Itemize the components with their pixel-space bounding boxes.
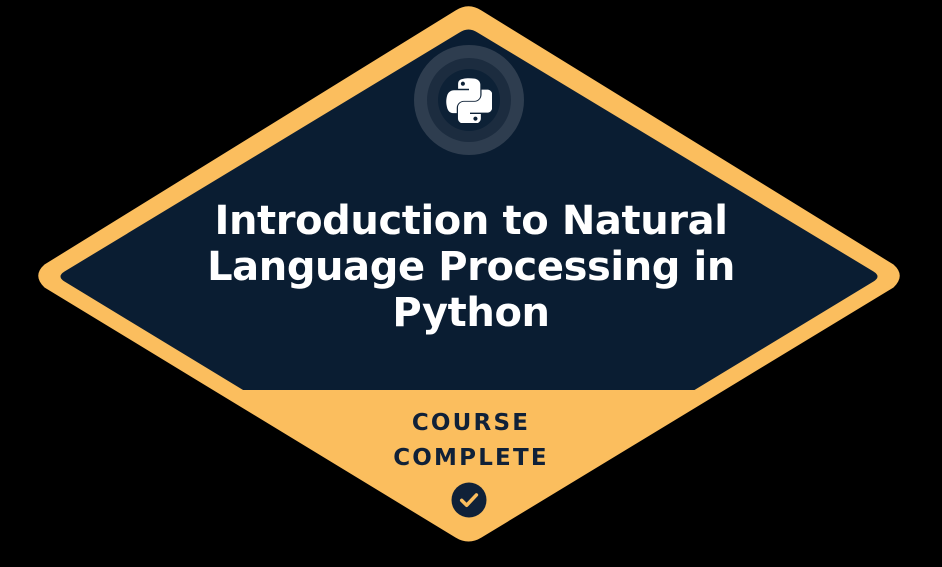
completion-label-line-2: COMPLETE	[0, 441, 942, 476]
course-title-line-2: Language Processing in	[120, 244, 822, 290]
badge-canvas: Introduction to Natural Language Process…	[0, 0, 942, 567]
completion-label-line-1: COURSE	[0, 406, 942, 441]
python-logo-icon	[446, 77, 492, 123]
course-title-line-3: Python	[120, 290, 822, 336]
check-circle-icon	[452, 483, 487, 518]
completion-label: COURSE COMPLETE	[0, 406, 942, 476]
course-title-line-1: Introduction to Natural	[120, 198, 822, 244]
check-circle-background	[452, 483, 487, 518]
badge-content: Introduction to Natural Language Process…	[0, 0, 942, 567]
course-title: Introduction to Natural Language Process…	[0, 198, 942, 336]
